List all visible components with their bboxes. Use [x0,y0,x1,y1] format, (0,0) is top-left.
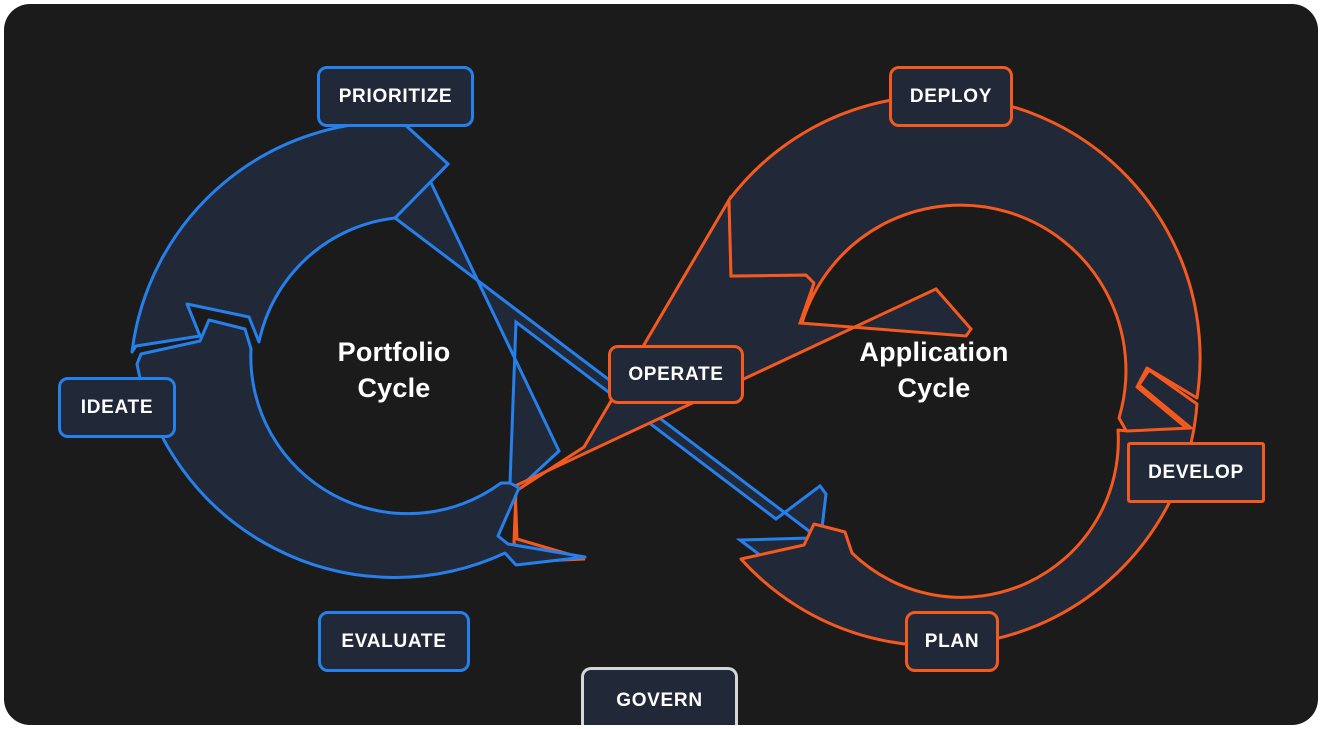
stage-chip-govern[interactable]: GOVERN [581,667,738,725]
diagram-panel: Portfolio Cycle Application Cycle PRIORI… [4,4,1318,725]
stage-chip-operate[interactable]: OPERATE [608,345,744,404]
stage-chip-plan[interactable]: PLAN [905,611,999,672]
stage-chip-develop[interactable]: DEVELOP [1127,442,1265,503]
portfolio-cycle-ring [132,122,448,352]
application-cycle-ring-upper [729,96,1200,434]
stage-chip-deploy[interactable]: DEPLOY [889,66,1013,127]
stage-chip-evaluate[interactable]: EVALUATE [318,611,470,672]
diagram-canvas: Portfolio Cycle Application Cycle PRIORI… [0,0,1322,729]
stage-chip-ideate[interactable]: IDEATE [58,377,176,438]
stage-chip-prioritize[interactable]: PRIORITIZE [317,66,474,127]
